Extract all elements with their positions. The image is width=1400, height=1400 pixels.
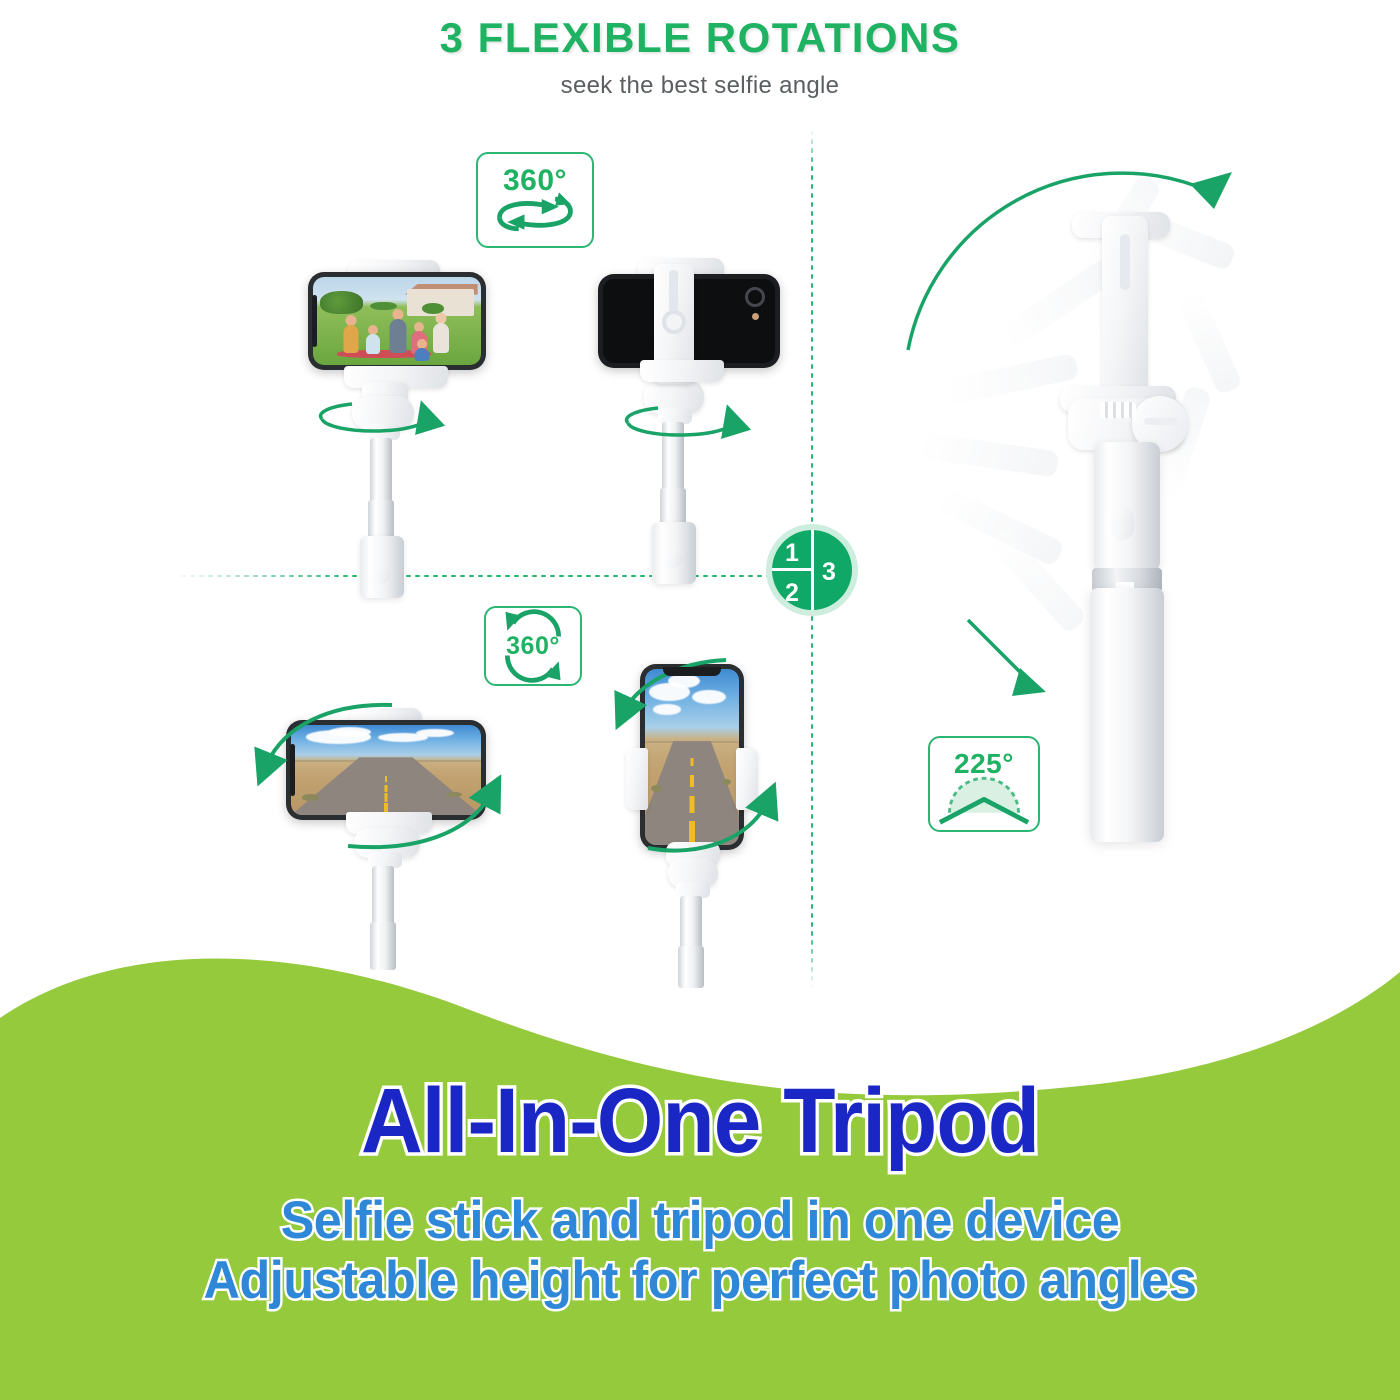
badge-number-3: 3 xyxy=(822,560,836,585)
badge-number-2: 2 xyxy=(785,581,799,606)
banner-title: All-In-One Tripod xyxy=(49,1075,1351,1169)
page-subtitle: seek the best selfie angle xyxy=(0,72,1400,100)
screen-image-desert-highway xyxy=(645,669,739,845)
rear-flash xyxy=(752,313,759,320)
shutter-button xyxy=(664,550,682,568)
tilt-hinge-slot xyxy=(1144,418,1178,425)
badge-360-circular: 360° xyxy=(484,606,582,686)
screen-image-family-photo xyxy=(313,277,481,365)
tripod-body-lower xyxy=(1090,588,1164,842)
banner-text: All-In-One Tripod Selfie stick and tripo… xyxy=(0,1075,1400,1312)
phone-screen xyxy=(313,277,481,365)
badge-disc: 1 2 3 xyxy=(772,530,852,610)
clamp-ghost-arm xyxy=(921,433,1059,478)
clamp-pivot-dot xyxy=(662,310,686,334)
phone-notch xyxy=(290,744,295,796)
phone-landscape-roll xyxy=(286,720,486,820)
badge-divider-horizontal xyxy=(772,568,812,571)
rotate-horizontal-icon xyxy=(478,154,592,246)
badge-divider-vertical xyxy=(811,530,814,610)
clamp-ghost-arm xyxy=(1177,290,1243,396)
phone-screen xyxy=(291,725,481,815)
shutter-button xyxy=(372,566,390,584)
rear-camera-ring xyxy=(745,287,765,307)
phone-portrait-roll xyxy=(640,664,744,850)
clamp-column-groove xyxy=(1120,234,1130,290)
page-title: 3 FLEXIBLE ROTATIONS xyxy=(0,14,1400,62)
panel-1-horizontal-swivel xyxy=(300,250,530,580)
telescoping-pole-upper xyxy=(370,438,392,504)
tilt-dome-icon xyxy=(930,738,1038,830)
phone-notch xyxy=(663,667,721,676)
clamp-jaw-right xyxy=(736,748,758,810)
banner-subline-2: Adjustable height for perfect photo angl… xyxy=(35,1251,1365,1311)
phone-notch xyxy=(312,295,317,347)
screen-image-desert-highway xyxy=(291,725,481,815)
telescoping-pole-upper xyxy=(662,422,684,492)
badge-360-horizontal: 360° xyxy=(476,152,594,248)
header: 3 FLEXIBLE ROTATIONS seek the best selfi… xyxy=(0,14,1400,100)
hinge-teeth xyxy=(1100,402,1136,418)
clamp-ghost-arm xyxy=(1000,257,1119,349)
rotate-circular-icon xyxy=(486,608,580,684)
clamp-jaw-left xyxy=(626,748,648,810)
banner-subline-1: Selfie stick and tripod in one device xyxy=(35,1191,1365,1251)
rotation-step-badge: 1 2 3 xyxy=(766,524,858,616)
badge-number-1: 1 xyxy=(785,541,799,566)
badge-225-tilt: 225° xyxy=(928,736,1040,832)
clamp-bottom-arm xyxy=(640,360,724,382)
phone-landscape-front xyxy=(308,272,486,370)
shutter-button xyxy=(1110,506,1134,540)
phone-screen xyxy=(645,669,739,845)
